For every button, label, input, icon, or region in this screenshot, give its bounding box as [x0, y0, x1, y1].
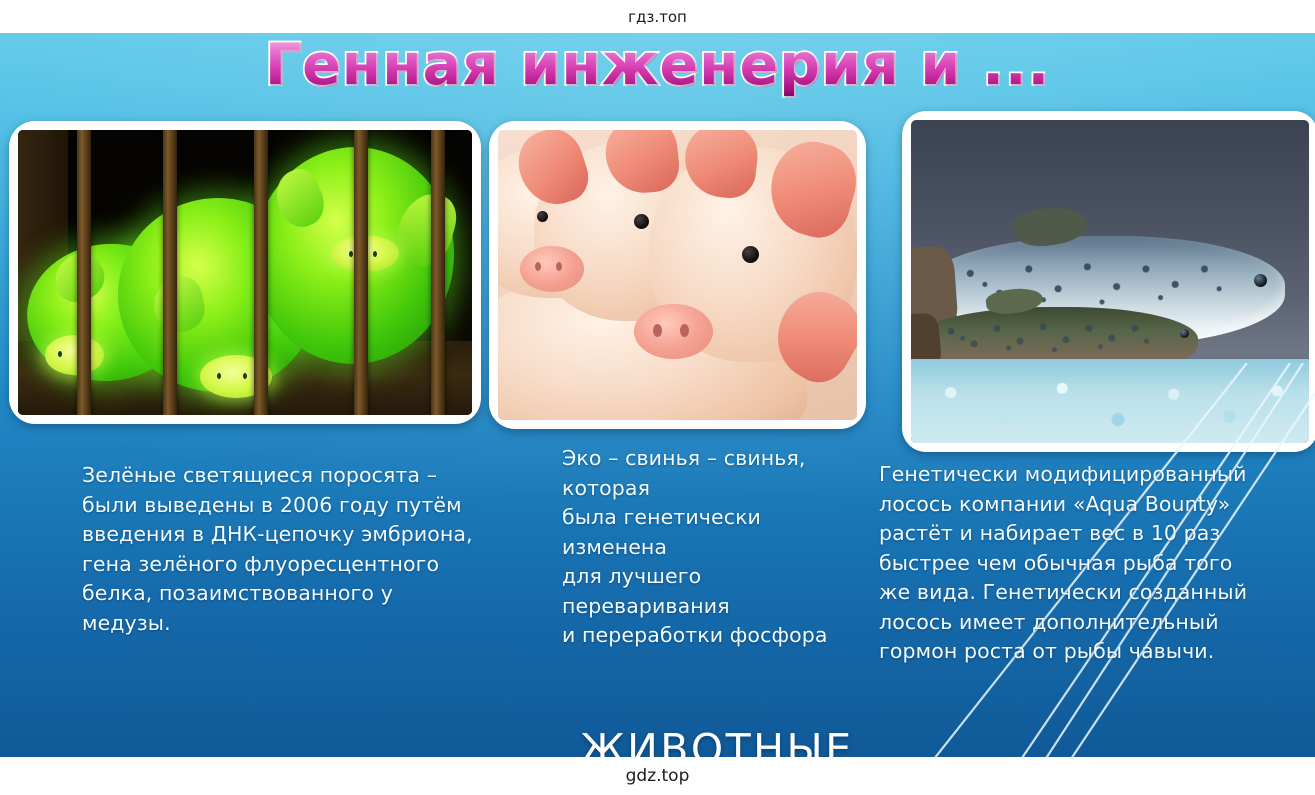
nostril — [373, 251, 377, 257]
photo-frame-gm-salmon[interactable] — [902, 111, 1315, 452]
salmon-eye — [1254, 274, 1267, 287]
photo-frame-pink-piglets[interactable] — [489, 121, 866, 429]
nostril — [535, 262, 541, 271]
nostril — [217, 373, 221, 379]
piglet-snout — [634, 304, 713, 359]
cage-bar — [163, 130, 177, 415]
nostril — [680, 324, 689, 337]
photo-pink-piglets — [498, 130, 857, 420]
caption-green-pigs: Зелёные светящиеся поросята – были вывед… — [82, 461, 482, 638]
title-wrapper: Генная инженерия и ... Генная инженерия … — [0, 36, 1315, 96]
nostril — [556, 262, 562, 271]
caption-gm-salmon: Генетически модифицированный лосось комп… — [879, 460, 1311, 667]
piglet-eye — [742, 246, 759, 263]
photo-frame-green-piglets[interactable] — [9, 121, 481, 424]
photo-green-piglets — [18, 130, 472, 415]
nostril — [58, 351, 62, 357]
cage-bar — [431, 130, 445, 415]
cage-bar — [77, 130, 91, 415]
aquarium-gravel — [911, 359, 1309, 443]
watermark-bottom: gdz.top — [0, 757, 1315, 795]
cage-bar — [254, 130, 268, 415]
cage-bar — [354, 130, 368, 415]
nostril — [653, 324, 662, 337]
caption-eco-pig: Эко – свинья – свинья, которая была гене… — [562, 444, 862, 651]
watermark-top-text: гдз.топ — [628, 8, 687, 26]
nostril — [349, 251, 353, 257]
salmon-eye — [1180, 329, 1189, 338]
piglet-snout — [45, 335, 104, 375]
watermark-top: гдз.топ — [0, 0, 1315, 33]
watermark-bottom-text: gdz.top — [626, 766, 690, 786]
section-label-animals: ЖИВОТНЫЕ — [562, 725, 872, 757]
slide-canvas: Генная инженерия и ... Генная инженерия … — [0, 33, 1315, 757]
photo-gm-salmon — [911, 120, 1309, 443]
nostril — [243, 373, 247, 379]
page-title: Генная инженерия и ... — [265, 36, 1050, 96]
